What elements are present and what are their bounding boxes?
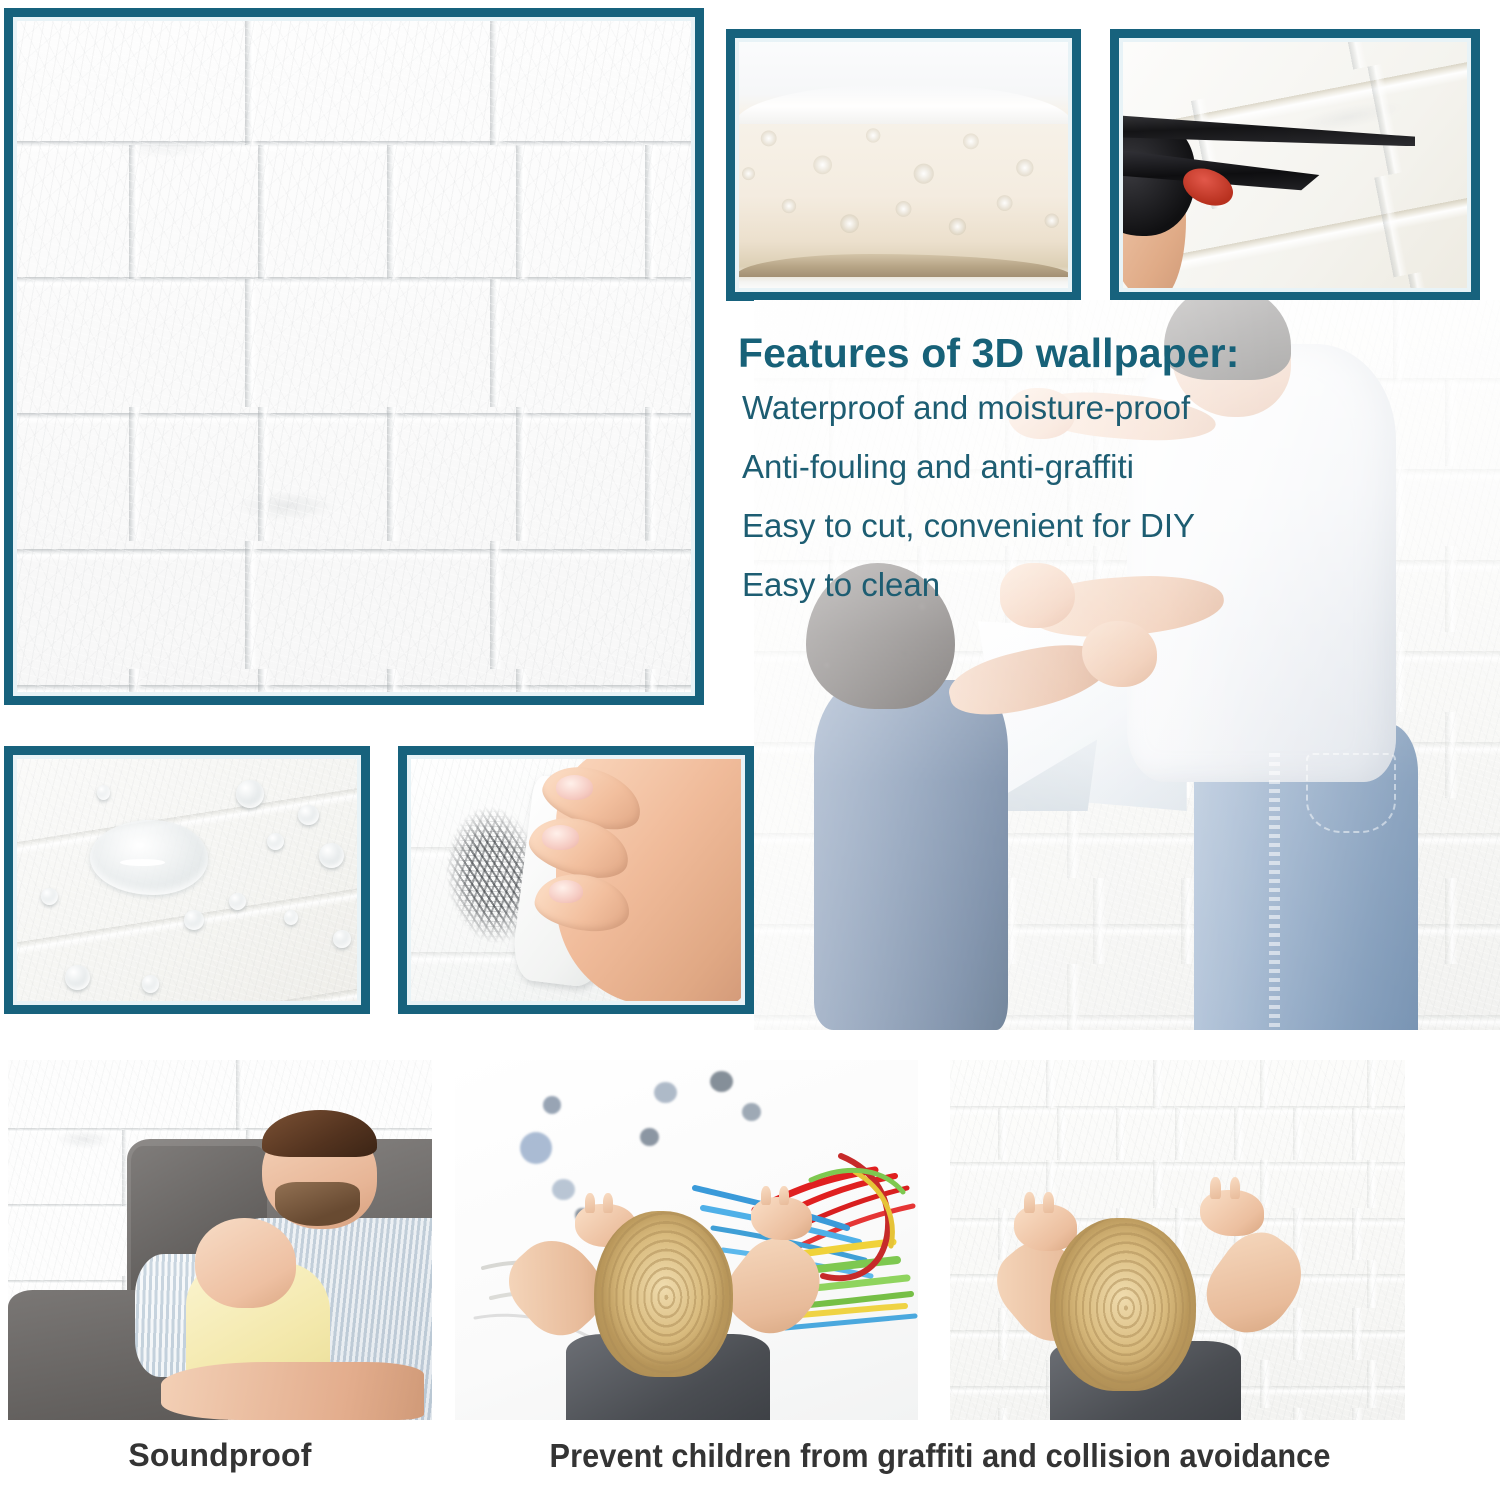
foam-cell-structure [735,109,1072,256]
features-heading: Features of 3D wallpaper: [738,330,1378,377]
child-blue-shirt [814,680,1008,1030]
water-drop [229,893,246,911]
water-drop [319,843,343,868]
product-infographic-poster: Features of 3D wallpaper: Waterproof and… [0,0,1500,1485]
water-drop [333,930,350,948]
water-drop [236,780,264,808]
water-drop [142,975,159,993]
water-droplets-photo [13,755,361,1005]
child-hand [1082,621,1157,687]
water-drop [65,965,89,990]
scissors-cutting-panel[interactable] [1110,29,1480,301]
fingernail [549,880,583,903]
features-text-block: Features of 3D wallpaper: Waterproof and… [738,330,1378,601]
soundproof-photo[interactable] [8,1060,432,1420]
feature-item-waterproof: Waterproof and moisture-proof [742,391,1378,424]
brick-wallpaper-photo [13,17,695,696]
man-arm [161,1362,424,1420]
caption-graffiti-collision: Prevent children from graffiti and colli… [475,1437,1405,1475]
scissors-icon [1119,104,1422,236]
wiping-photo [407,755,745,1005]
brick-texture [13,17,695,696]
foam-section-photo [735,38,1072,292]
man-beard [275,1182,360,1225]
water-drop [41,888,58,906]
cutting-demo-photo [1119,38,1471,292]
child-right-hand [751,1197,811,1240]
graffiti-photo[interactable] [455,1060,918,1420]
baby-head [195,1218,297,1308]
feature-item-easy-clean: Easy to clean [742,568,1378,601]
water-drop [184,910,205,930]
feature-item-easy-cut: Easy to cut, convenient for DIY [742,509,1378,542]
caption-soundproof: Soundproof [8,1437,432,1474]
fingernail [542,825,579,850]
jeans-seam [1269,753,1280,1030]
main-wallpaper-sample-panel[interactable] [4,8,704,705]
feature-item-anti-fouling: Anti-fouling and anti-graffiti [742,450,1378,483]
child-blond-hair [1050,1218,1196,1391]
foam-cross-section-panel[interactable] [726,29,1081,301]
child-right-hand [1200,1190,1264,1237]
waterproof-demo-panel[interactable] [4,746,370,1014]
collision-avoidance-photo[interactable] [950,1060,1405,1420]
water-puddle [90,820,208,895]
fingernail [556,775,593,800]
easy-clean-demo-panel[interactable] [398,746,754,1014]
child-blond-hair [594,1211,733,1377]
jeans-pocket [1306,753,1396,833]
